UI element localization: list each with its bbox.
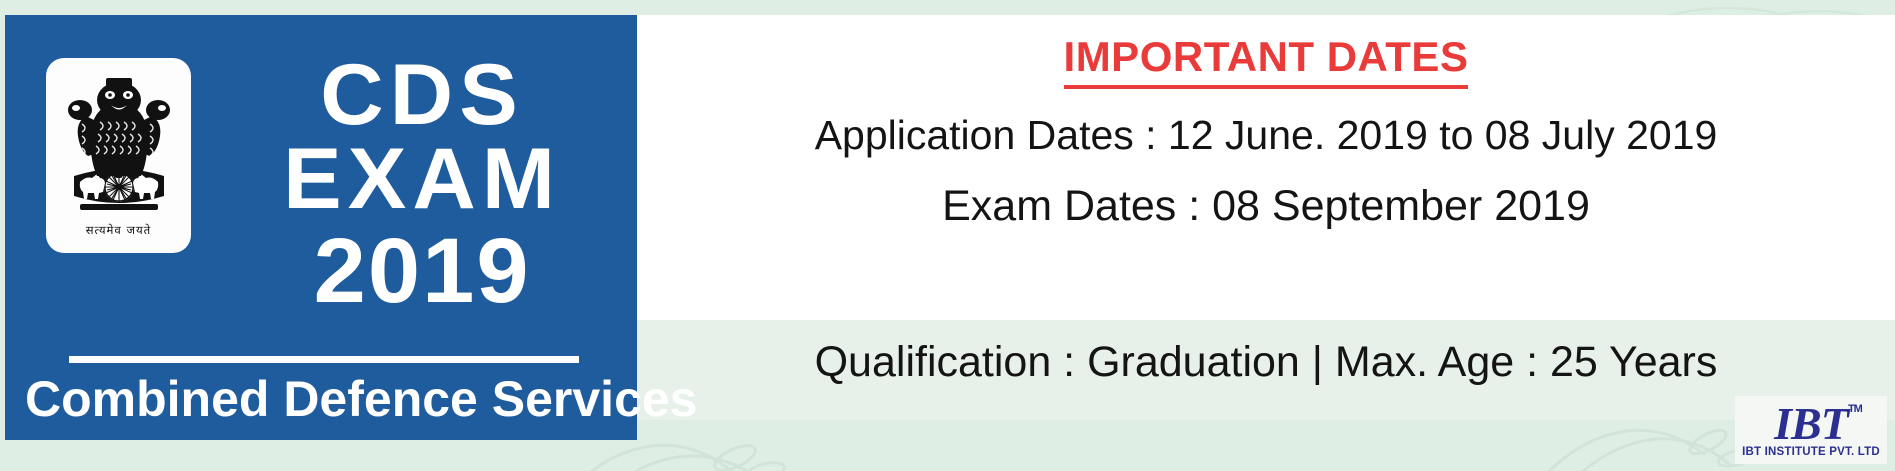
exam-title-line1: CDS EXAM [213, 53, 631, 222]
exam-title-panel: सत्यमेव जयते CDS EXAM 2019 Combined Defe… [5, 15, 637, 440]
important-dates-heading-text: IMPORTANT DATES [1064, 33, 1469, 89]
exam-subtitle: Combined Defence Services [25, 370, 617, 428]
ibt-logo: IBT TM IBT INSTITUTE PVT. LTD [1735, 396, 1887, 464]
national-emblem-card: सत्यमेव जयते [46, 58, 191, 253]
qualification-text: Qualification : Graduation | Max. Age : … [637, 338, 1895, 387]
title-divider [69, 356, 579, 363]
india-national-emblem-icon [56, 64, 182, 222]
application-dates-text: Application Dates : 12 June. 2019 to 08 … [637, 112, 1895, 159]
exam-title-year: 2019 [213, 226, 631, 316]
ibt-logo-letters: IBT [1774, 398, 1848, 449]
exam-title: CDS EXAM 2019 [213, 53, 631, 316]
emblem-motto-text: सत्यमेव जयते [86, 223, 151, 238]
important-dates-heading: IMPORTANT DATES [637, 33, 1895, 81]
exam-dates-text: Exam Dates : 08 September 2019 [637, 182, 1895, 231]
cds-exam-banner: सत्यमेव जयते CDS EXAM 2019 Combined Defe… [0, 0, 1895, 471]
ibt-logo-mark-text: IBT TM [1774, 402, 1848, 446]
trademark-symbol: TM [1848, 404, 1862, 414]
